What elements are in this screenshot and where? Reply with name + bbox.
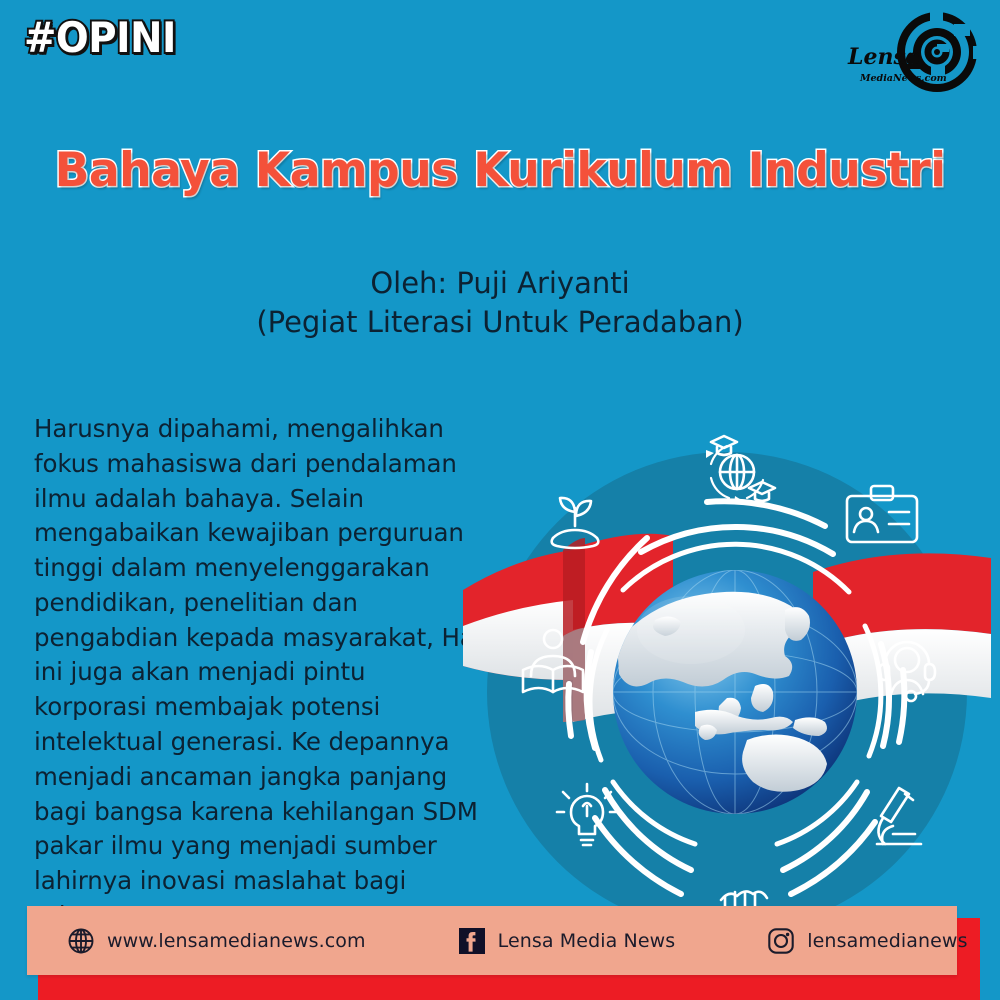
opinion-poster: #OPINI Lensa MediaNews.com bbox=[0, 0, 1000, 1000]
facebook-icon bbox=[458, 927, 486, 955]
footer-facebook[interactable]: Lensa Media News bbox=[458, 927, 676, 955]
page-title: Bahaya Kampus Kurikulum Industri bbox=[15, 146, 985, 195]
logo-sub-wordmark: MediaNews.com bbox=[859, 73, 947, 84]
category-tag: #OPINI bbox=[24, 14, 176, 62]
author-block: Oleh: Puji Ariyanti (Pegiat Literasi Unt… bbox=[0, 264, 1000, 343]
earth-globe bbox=[613, 570, 857, 814]
author-affiliation: (Pegiat Literasi Untuk Peradaban) bbox=[0, 303, 1000, 342]
globe-icon bbox=[67, 927, 95, 955]
footer-facebook-label: Lensa Media News bbox=[498, 930, 676, 952]
lensa-media-news-logo[interactable]: Lensa MediaNews.com bbox=[842, 2, 992, 102]
instagram-icon bbox=[767, 927, 795, 955]
author-name: Oleh: Puji Ariyanti bbox=[0, 264, 1000, 303]
globe-illustration bbox=[455, 430, 1000, 930]
footer-instagram-label: lensamedianews bbox=[807, 930, 967, 952]
footer-contact-list: www.lensamedianews.com Lensa Media News bbox=[27, 906, 957, 975]
article-body: Harusnya dipahami, mengalihkan fokus mah… bbox=[34, 412, 482, 934]
footer-website-label: www.lensamedianews.com bbox=[107, 930, 366, 952]
footer-instagram[interactable]: lensamedianews bbox=[767, 927, 967, 955]
footer-website[interactable]: www.lensamedianews.com bbox=[67, 927, 366, 955]
